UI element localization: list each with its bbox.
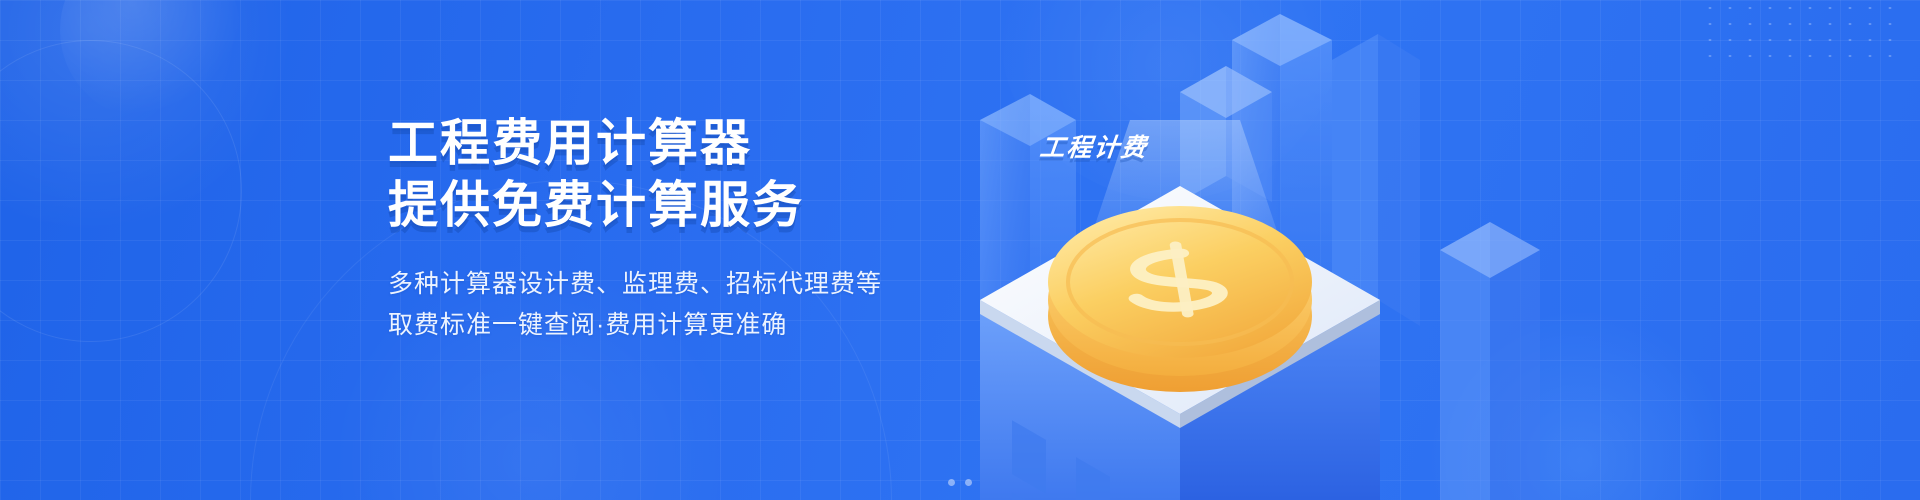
illustration-badge-label: 工程计费 bbox=[1038, 128, 1150, 164]
carousel-dot-1[interactable] bbox=[948, 479, 955, 486]
carousel-dot-2[interactable] bbox=[965, 479, 972, 486]
subtitle-line-1: 多种计算器设计费、监理费、招标代理费等 bbox=[388, 264, 1028, 305]
carousel-indicators[interactable] bbox=[948, 479, 972, 486]
ring-decoration bbox=[0, 40, 242, 342]
dollar-coin-icon bbox=[1048, 206, 1312, 392]
subtitle-line-2: 取费标准一键查阅·费用计算更准确 bbox=[388, 305, 1028, 346]
headline-line-2: 提供免费计算服务 bbox=[388, 174, 1028, 236]
banner-illustration bbox=[880, 0, 1920, 500]
foreground-tower bbox=[1440, 222, 1540, 500]
banner-subtitle: 多种计算器设计费、监理费、招标代理费等 取费标准一键查阅·费用计算更准确 bbox=[388, 264, 1028, 346]
page-title: 工程费用计算器 提供免费计算服务 bbox=[388, 112, 1028, 236]
banner-copy: 工程费用计算器 提供免费计算服务 多种计算器设计费、监理费、招标代理费等 取费标… bbox=[388, 112, 1028, 346]
promo-banner: 工程计费 工程费用计算器 提供免费计算服务 多种计算器设计费、监理费、招标代理费… bbox=[0, 0, 1920, 500]
headline-line-1: 工程费用计算器 bbox=[388, 115, 752, 171]
